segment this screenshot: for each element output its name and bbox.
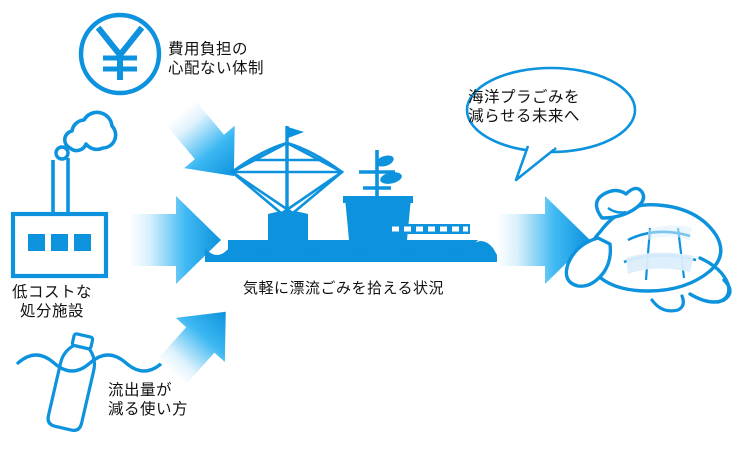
infographic-canvas: 費用負担の心配ない体制 低コストな処分施設 流出量が減る使い方 気軽に漂流ごみを… (0, 0, 736, 450)
bubble-text-line1: 海洋プラごみを (468, 89, 580, 106)
arrow-factory-to-ship (129, 196, 221, 284)
factory-icon (13, 112, 116, 276)
arrow-bottle-to-ship (146, 290, 250, 395)
sea-turtle-icon (566, 188, 730, 310)
factory-caption-line2: 処分施設 (20, 303, 84, 320)
bottle-caption-line2: 減る使い方 (108, 401, 188, 418)
bubble-text: 海洋プラごみを減らせる未来へ (468, 88, 580, 127)
bottle-caption: 流出量が減る使い方 (108, 381, 188, 420)
bottle-caption-line1: 流出量が (108, 382, 172, 399)
fee-caption-line2: 心配ない体制 (168, 60, 264, 77)
factory-caption-line1: 低コストな (12, 284, 92, 301)
collection-ship-icon (228, 126, 478, 262)
fee-caption: 費用負担の心配ない体制 (168, 40, 264, 79)
ship-caption: 気軽に漂流ごみを拾える状況 (243, 280, 444, 299)
yen-circle-icon (81, 15, 159, 93)
factory-caption: 低コストな処分施設 (12, 283, 92, 322)
fee-caption-line1: 費用負担の (168, 41, 248, 58)
bubble-text-line2: 減らせる未来へ (468, 108, 580, 125)
